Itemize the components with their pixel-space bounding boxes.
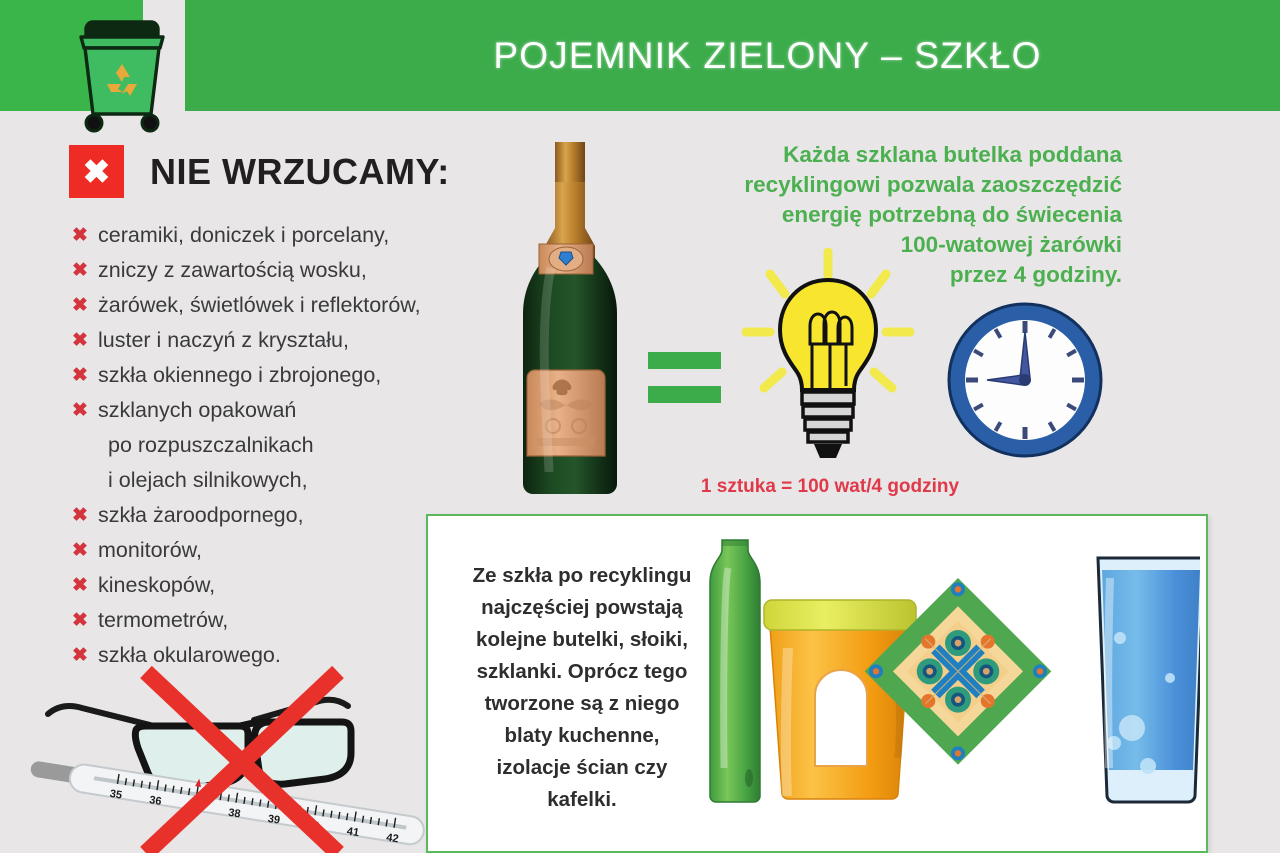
x-bullet-icon: ✖ (72, 393, 87, 428)
recycled-products-illustration (700, 528, 1200, 828)
x-mark-icon: ✖ (69, 145, 124, 198)
x-bullet-icon: ✖ (72, 603, 87, 638)
clock-icon (945, 300, 1105, 460)
x-bullet-icon: ✖ (72, 533, 87, 568)
energy-paragraph-line: energię potrzebną do świecenia (666, 200, 1122, 230)
deny-list-item-label: szkła żaroodpornego, (98, 498, 304, 533)
products-paragraph: Ze szkła po recyklingu najczęściej powst… (448, 560, 716, 816)
deny-list-item-label: termometrów, (98, 603, 228, 638)
products-paragraph-line: Ze szkła po recyklingu (448, 560, 716, 592)
x-bullet-icon: ✖ (72, 498, 87, 533)
lightbulb-icon (740, 248, 915, 478)
deny-list-item-label: ceramiki, doniczek i porcelany, (98, 218, 389, 253)
products-paragraph-line: najczęściej powstają (448, 592, 716, 624)
page-title: POJEMNIK ZIELONY – SZKŁO (423, 35, 1041, 77)
infographic-root: POJEMNIK ZIELONY – SZKŁO ✖ NIE WRZUCAMY:… (0, 0, 1280, 853)
x-bullet-icon: ✖ (72, 358, 87, 393)
thermometer-tick-label: 35 (109, 788, 123, 802)
deny-list-item-label: szkła okiennego i zbrojonego, (98, 358, 381, 393)
thermometer-tick-label: 42 (385, 832, 399, 846)
thermometer-tick-label: 38 (227, 807, 241, 821)
thermometer-tick-label: 41 (346, 825, 360, 839)
energy-caption: 1 sztuka = 100 wat/4 godziny (620, 476, 1040, 498)
water-glass-icon (1098, 558, 1200, 802)
x-bullet-icon: ✖ (72, 568, 87, 603)
thermometer-tick-label: 39 (267, 813, 281, 827)
thermometer-tick-label: 36 (148, 794, 162, 808)
deny-list-item: ✖ szkła okiennego i zbrojonego, (72, 358, 492, 393)
products-paragraph-line: izolacje ścian czy (448, 752, 716, 784)
champagne-bottle-icon (513, 138, 641, 500)
products-paragraph-line: szklanki. Oprócz tego (448, 656, 716, 688)
equals-sign-icon (648, 352, 721, 420)
deny-list-item-label: luster i naczyń z kryształu, (98, 323, 349, 358)
deny-list-item: ✖ ceramiki, doniczek i porcelany, (72, 218, 492, 253)
products-paragraph-line: tworzone są z niego (448, 688, 716, 720)
deny-list-item-continuation: ✖ i olejach silnikowych, (72, 463, 492, 498)
deny-list-item: ✖ zniczy z zawartością wosku, (72, 253, 492, 288)
products-paragraph-line: kolejne butelki, słoiki, (448, 624, 716, 656)
deny-list-item: ✖ żarówek, świetlówek i reflektorów, (72, 288, 492, 323)
deny-heading: NIE WRZUCAMY: (150, 151, 450, 193)
products-paragraph-line: blaty kuchenne, (448, 720, 716, 752)
green-recycling-bin-icon (63, 8, 181, 136)
deny-list-item-label: po rozpuszczalnikach (98, 428, 314, 463)
deny-list-item-label: kineskopów, (98, 568, 215, 603)
energy-paragraph-line: recyklingowi pozwala zaoszczędzić (666, 170, 1122, 200)
deny-list-item-label: żarówek, świetlówek i reflektorów, (98, 288, 421, 323)
products-paragraph-line: kafelki. (448, 784, 716, 816)
deny-list-item: ✖ szklanych opakowań (72, 393, 492, 428)
x-bullet-icon: ✖ (72, 253, 87, 288)
x-bullet-icon: ✖ (72, 218, 87, 253)
deny-list-item-continuation: ✖ po rozpuszczalnikach (72, 428, 492, 463)
deny-list-item-label: szklanych opakowań (98, 393, 296, 428)
forbidden-items-illustration: 35 36 37 38 39 40 41 42 (18, 664, 438, 853)
deny-list-item: ✖ luster i naczyń z kryształu, (72, 323, 492, 358)
deny-list-item-label: i olejach silnikowych, (98, 463, 308, 498)
energy-paragraph-line: Każda szklana butelka poddana (666, 140, 1122, 170)
deny-list-item-label: monitorów, (98, 533, 202, 568)
x-bullet-icon: ✖ (72, 288, 87, 323)
deny-heading-row: ✖ NIE WRZUCAMY: (69, 145, 450, 198)
x-bullet-icon: ✖ (72, 323, 87, 358)
deny-list-item-label: zniczy z zawartością wosku, (98, 253, 367, 288)
green-glass-bottle-icon (710, 540, 760, 802)
header-bar: POJEMNIK ZIELONY – SZKŁO (185, 0, 1280, 111)
